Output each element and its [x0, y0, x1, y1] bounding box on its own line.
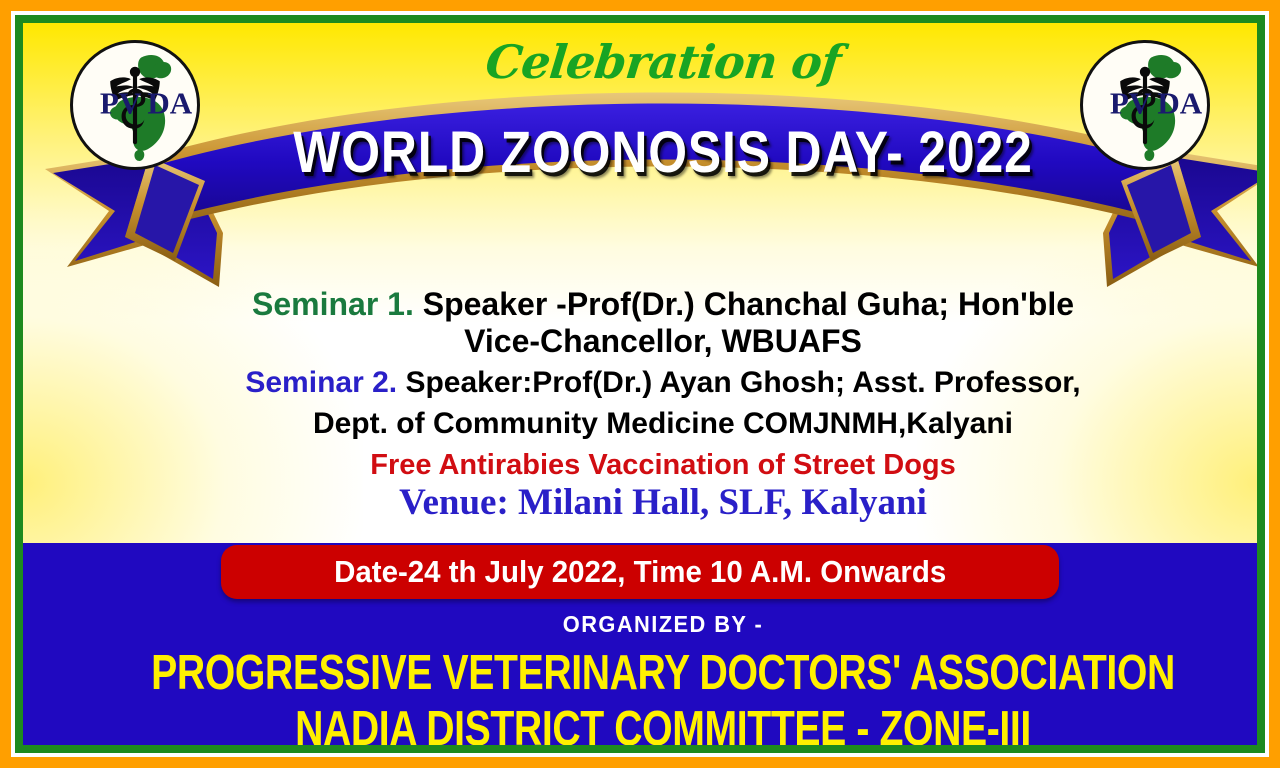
seminar-2-tag: Seminar 2. — [245, 366, 397, 399]
organization-name-line1: PROGRESSIVE VETERINARY DOCTORS' ASSOCIAT… — [151, 645, 1175, 701]
pvda-logo-text-da: DA — [147, 85, 192, 120]
poster-content: Seminar 1. Speaker -Prof(Dr.) Chanchal G… — [23, 285, 1257, 523]
organization-name-line2: NADIA DISTRICT COMMITTEE - ZONE-III — [151, 701, 1175, 745]
seminar-1-line: Seminar 1. Speaker -Prof(Dr.) Chanchal G… — [23, 287, 1257, 322]
seminar-2-text: Speaker:Prof(Dr.) Ayan Ghosh; Asst. Prof… — [405, 366, 1080, 399]
seminar-1-tag: Seminar 1. — [252, 286, 414, 322]
poster-frame-outer: PV DA — [0, 0, 1280, 768]
seminar-2-line2: Dept. of Community Medicine COMJNMH,Kaly… — [23, 408, 1257, 440]
poster-canvas: PV DA — [23, 23, 1257, 745]
organized-by-label: ORGANIZED BY - — [55, 611, 1257, 638]
pvda-logo-text-da: DA — [1157, 85, 1202, 120]
seminar-1-line2: Vice-Chancellor, WBUAFS — [23, 324, 1257, 359]
seminar-2-line: Seminar 2. Speaker:Prof(Dr.) Ayan Ghosh;… — [23, 367, 1257, 399]
venue-line: Venue: Milani Hall, SLF, Kalyani — [23, 483, 1257, 523]
seminar-1-text: Speaker -Prof(Dr.) Chanchal Guha; Hon'bl… — [423, 286, 1074, 322]
ribbon-banner — [23, 85, 1257, 290]
pvda-logo-text-pv: PV — [100, 85, 142, 120]
poster-frame-green: PV DA — [15, 15, 1265, 753]
date-time-banner: Date-24 th July 2022, Time 10 A.M. Onwar… — [221, 545, 1059, 599]
poster-frame-gap: PV DA — [11, 11, 1269, 757]
pvda-logo-text-pv: PV — [1110, 85, 1152, 120]
date-time-text: Date-24 th July 2022, Time 10 A.M. Onwar… — [334, 554, 946, 590]
celebration-label: Celebration of — [23, 35, 1257, 89]
ribbon-graphic — [23, 85, 1257, 290]
free-service-line: Free Antirabies Vaccination of Street Do… — [23, 450, 1257, 481]
